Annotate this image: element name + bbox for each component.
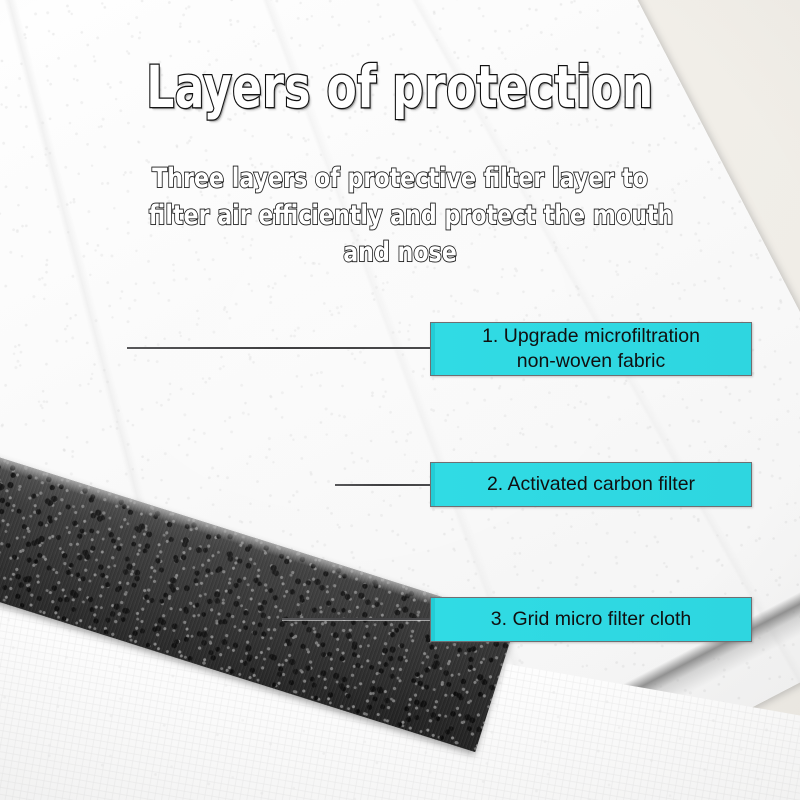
infographic-canvas: Layers of protection Three layers of pro… (0, 0, 800, 800)
callout-1-line-1: 1. Upgrade microfiltration (482, 324, 700, 349)
leader-line-activated-carbon (335, 484, 430, 486)
callout-3-line-1: 3. Grid micro filter cloth (491, 607, 691, 632)
page-title: Layers of protection (64, 56, 736, 118)
page-subtitle: Three layers of protective filter layer … (149, 160, 651, 271)
leader-line-grid-cloth (282, 618, 430, 620)
callout-1-line-2: non-woven fabric (482, 349, 700, 374)
subtitle-line-3: and nose (149, 234, 651, 271)
subtitle-line-1: Three layers of protective filter layer … (149, 160, 651, 197)
callout-box-non-woven-fabric[interactable]: 1. Upgrade microfiltration non-woven fab… (430, 322, 752, 376)
callout-box-activated-carbon[interactable]: 2. Activated carbon filter (430, 462, 752, 507)
subtitle-line-2: filter air efficiently and protect the m… (149, 197, 651, 234)
callout-2-line-1: 2. Activated carbon filter (487, 472, 695, 497)
callout-box-grid-cloth[interactable]: 3. Grid micro filter cloth (430, 597, 752, 642)
leader-line-non-woven-fabric (127, 347, 430, 349)
